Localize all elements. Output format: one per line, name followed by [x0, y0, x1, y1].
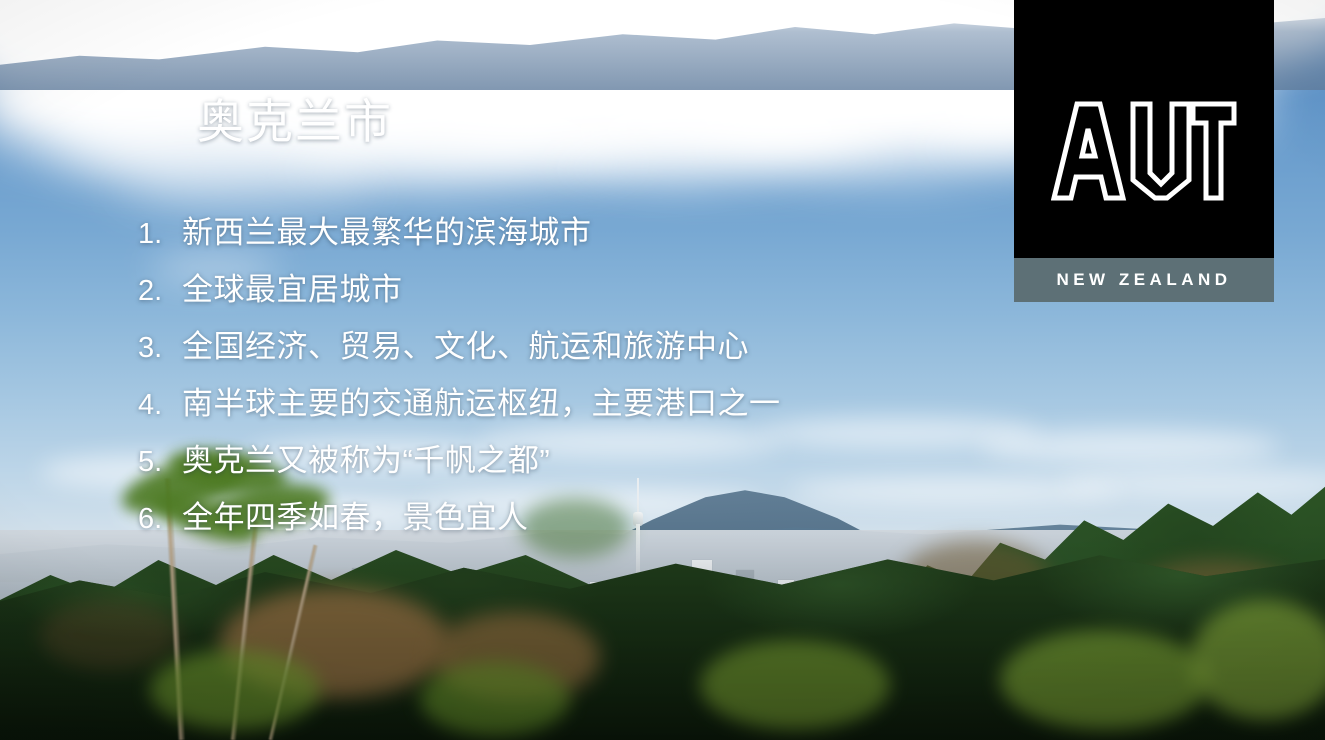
sunlit-foliage — [700, 640, 890, 730]
list-item-text: 全国经济、贸易、文化、航运和旅游中心 — [182, 318, 749, 375]
aut-logo: NEW ZEALAND — [1014, 0, 1274, 302]
list-item-text: 南半球主要的交通航运枢纽，主要港口之一 — [182, 375, 781, 432]
list-item-number: 6. — [138, 491, 182, 548]
list-item: 1. 新西兰最大最繁华的滨海城市 — [138, 204, 1138, 261]
list-item-text: 新西兰最大最繁华的滨海城市 — [182, 204, 592, 261]
aut-logo-box — [1014, 0, 1274, 258]
aut-tagline-text: NEW ZEALAND — [1056, 270, 1231, 290]
autumn-canopy — [40, 600, 180, 670]
cloud-shape — [560, 90, 880, 170]
list-item-text: 全球最宜居城市 — [182, 261, 403, 318]
sunlit-foliage — [420, 662, 570, 736]
aut-tagline-bar: NEW ZEALAND — [1014, 258, 1274, 302]
sunlit-foliage — [1000, 630, 1210, 730]
list-item: 4. 南半球主要的交通航运枢纽，主要港口之一 — [138, 375, 1138, 432]
list-item: 6. 全年四季如春，景色宜人 — [138, 489, 1138, 546]
aut-wordmark-icon — [1051, 101, 1237, 201]
list-item: 5. 奥克兰又被称为“千帆之都” — [138, 432, 1138, 489]
sunlit-foliage — [150, 650, 320, 730]
slide-title: 奥克兰市 — [197, 96, 393, 149]
presentation-slide: 奥克兰市 1. 新西兰最大最繁华的滨海城市 2. 全球最宜居城市 3. 全国经济… — [0, 0, 1325, 740]
bullet-list: 1. 新西兰最大最繁华的滨海城市 2. 全球最宜居城市 3. 全国经济、贸易、文… — [138, 204, 1138, 546]
list-item-number: 1. — [138, 206, 182, 263]
list-item: 2. 全球最宜居城市 — [138, 261, 1138, 318]
list-item-text: 全年四季如春，景色宜人 — [182, 489, 529, 546]
list-item-number: 3. — [138, 320, 182, 377]
list-item-text: 奥克兰又被称为“千帆之都” — [182, 432, 550, 489]
list-item-number: 4. — [138, 377, 182, 434]
cloud-shape — [120, 150, 380, 205]
list-item: 3. 全国经济、贸易、文化、航运和旅游中心 — [138, 318, 1138, 375]
list-item-number: 5. — [138, 434, 182, 491]
list-item-number: 2. — [138, 263, 182, 320]
